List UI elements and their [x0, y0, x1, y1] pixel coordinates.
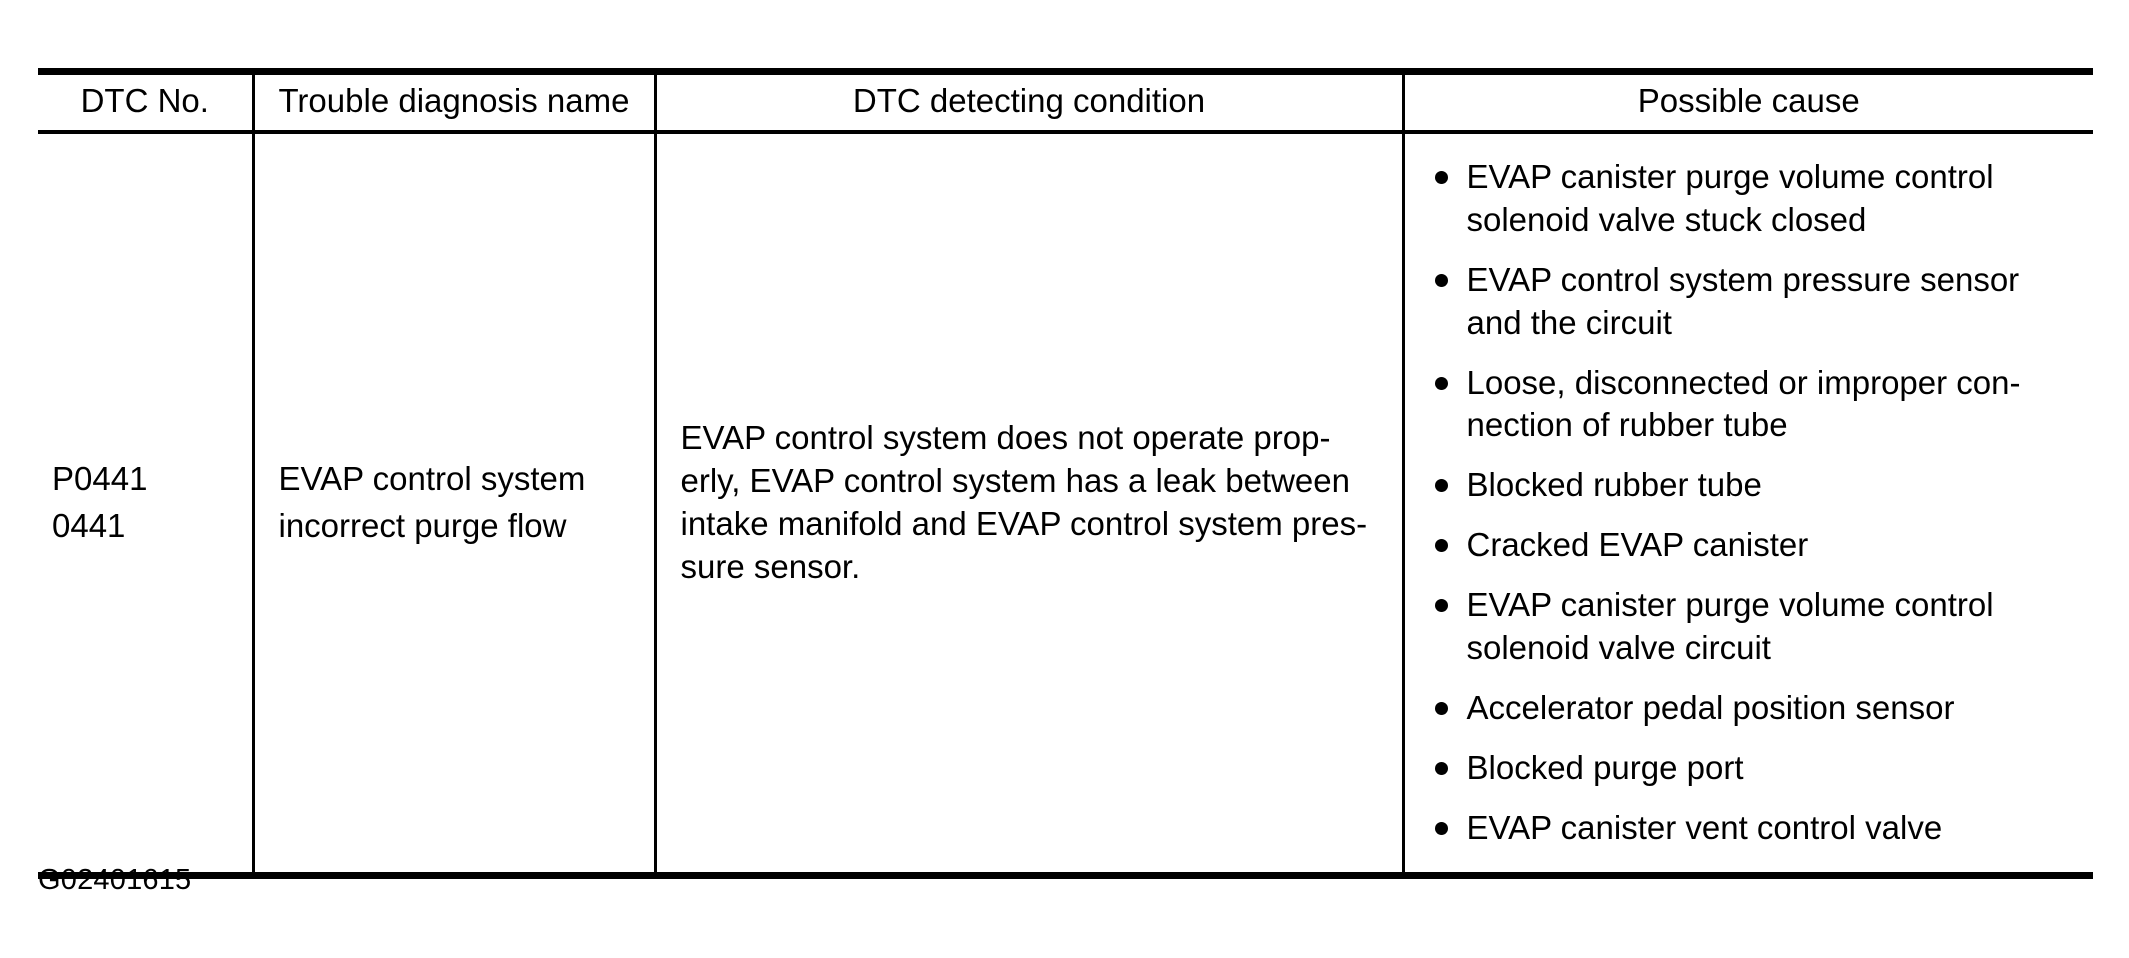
cell-trouble-diagnosis-name: EVAP control systemincorrect purge flow	[253, 132, 655, 875]
dtc-diagnosis-table: DTC No. Trouble diagnosis name DTC detec…	[38, 68, 2093, 879]
text-line: Accelerator pedal position sensor	[1467, 687, 2078, 730]
text-line: intake manifold and EVAP control system …	[681, 503, 1378, 546]
text-line: Cracked EVAP canister	[1467, 524, 2078, 567]
bullet-icon	[1435, 539, 1448, 552]
possible-cause-item: Blocked rubber tube	[1433, 464, 2078, 507]
column-header-possible-cause: Possible cause	[1403, 75, 2093, 132]
text-line: nection of rubber tube	[1467, 404, 2078, 447]
dtc-no-block: P04410441	[38, 444, 252, 562]
bullet-icon	[1435, 377, 1448, 390]
text-line: erly, EVAP control system has a leak bet…	[681, 460, 1378, 503]
possible-cause-item: EVAP canister purge volume controlsoleno…	[1433, 156, 2078, 242]
text-line: EVAP control system does not operate pro…	[681, 417, 1378, 460]
text-line: incorrect purge flow	[279, 505, 636, 548]
bullet-icon	[1435, 479, 1448, 492]
text-line: and the circuit	[1467, 302, 2078, 345]
text-line: EVAP canister vent control valve	[1467, 807, 2078, 850]
column-header-trouble-diagnosis-name: Trouble diagnosis name	[253, 75, 655, 132]
text-line: EVAP control system	[279, 458, 636, 501]
possible-cause-item: EVAP canister vent control valve	[1433, 807, 2078, 850]
possible-cause-item: EVAP canister purge volume controlsoleno…	[1433, 584, 2078, 670]
text-line: Blocked purge port	[1467, 747, 2078, 790]
text-line: solenoid valve circuit	[1467, 627, 2078, 670]
bullet-icon	[1435, 171, 1448, 184]
bullet-icon	[1435, 599, 1448, 612]
table-header: DTC No. Trouble diagnosis name DTC detec…	[38, 72, 2093, 133]
possible-cause-item: Cracked EVAP canister	[1433, 524, 2078, 567]
possible-cause-item: EVAP control system pressure sensorand t…	[1433, 259, 2078, 345]
column-header-dtc-detecting-condition: DTC detecting condition	[655, 75, 1403, 132]
text-line: sure sensor.	[681, 546, 1378, 589]
text-line: solenoid valve stuck closed	[1467, 199, 2078, 242]
bullet-icon	[1435, 822, 1448, 835]
possible-cause-list: EVAP canister purge volume controlsoleno…	[1433, 156, 2078, 850]
trouble-diagnosis-name-block: EVAP control systemincorrect purge flow	[255, 444, 654, 562]
header-row: DTC No. Trouble diagnosis name DTC detec…	[38, 75, 2093, 132]
possible-cause-item: Blocked purge port	[1433, 747, 2078, 790]
text-line: Loose, disconnected or improper con-	[1467, 362, 2078, 405]
text-line: P0441	[52, 458, 252, 501]
cell-possible-cause: EVAP canister purge volume controlsoleno…	[1403, 132, 2093, 875]
text-line: EVAP canister purge volume control	[1467, 156, 2078, 199]
bullet-icon	[1435, 702, 1448, 715]
text-line: 0441	[52, 505, 252, 548]
possible-cause-item: Accelerator pedal position sensor	[1433, 687, 2078, 730]
bullet-icon	[1435, 762, 1448, 775]
bullet-icon	[1435, 274, 1448, 287]
table-body: P04410441 EVAP control systemincorrect p…	[38, 132, 2093, 875]
table-row: P04410441 EVAP control systemincorrect p…	[38, 132, 2093, 875]
figure-caption: G02401615	[38, 866, 191, 895]
text-line: Blocked rubber tube	[1467, 464, 2078, 507]
column-header-dtc-no: DTC No.	[38, 75, 253, 132]
cell-dtc-no: P04410441	[38, 132, 253, 875]
cell-dtc-detecting-condition: EVAP control system does not operate pro…	[655, 132, 1403, 875]
possible-cause-item: Loose, disconnected or improper con-nect…	[1433, 362, 2078, 448]
text-line: EVAP canister purge volume control	[1467, 584, 2078, 627]
text-line: EVAP control system pressure sensor	[1467, 259, 2078, 302]
document-page: DTC No. Trouble diagnosis name DTC detec…	[0, 0, 2129, 958]
possible-cause-block: EVAP canister purge volume controlsoleno…	[1405, 134, 2094, 872]
dtc-detecting-condition-block: EVAP control system does not operate pro…	[657, 403, 1402, 603]
